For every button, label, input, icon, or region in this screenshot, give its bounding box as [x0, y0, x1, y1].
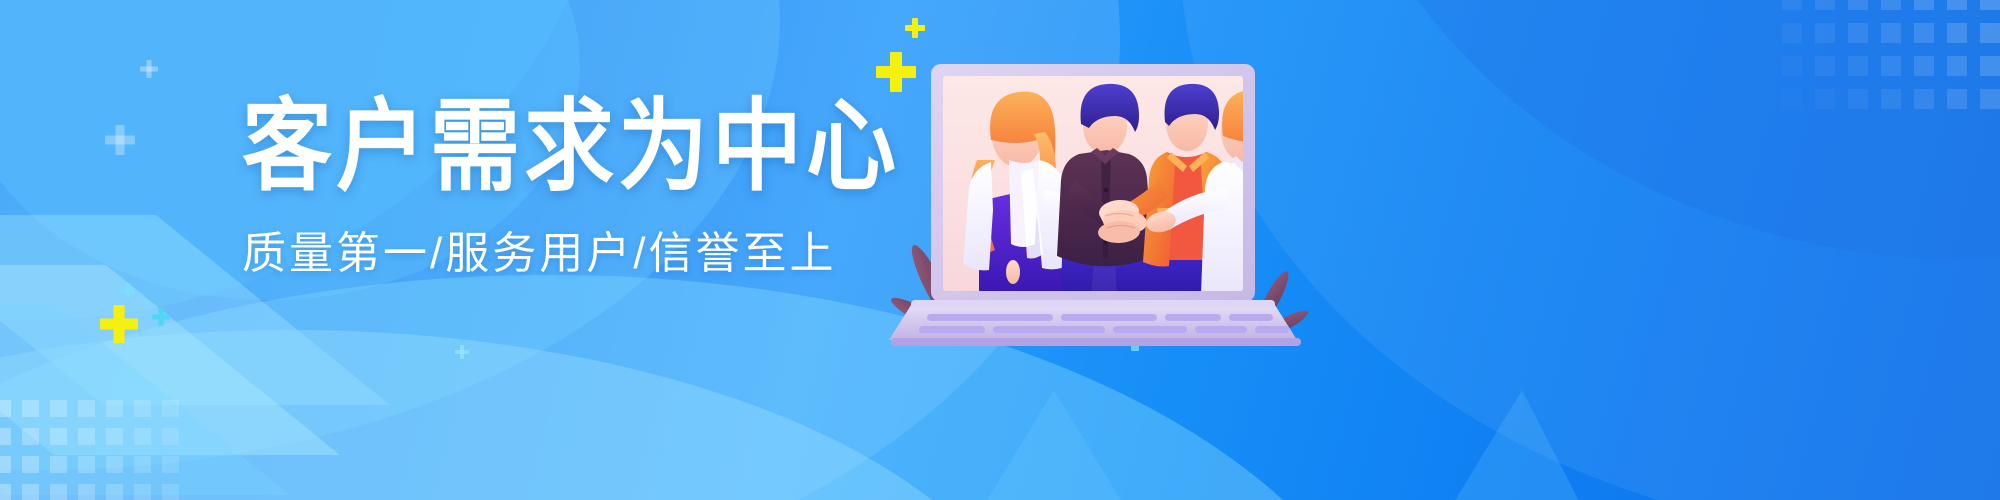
grid-square [1815, 23, 1835, 43]
background-wave-bottom-inner [0, 330, 1040, 500]
cross-decor-cyan-tiny [120, 283, 135, 298]
grid-square [1815, 0, 1835, 10]
grid-dot [78, 484, 95, 500]
grid-square [1980, 0, 2000, 10]
grid-dot [22, 456, 39, 473]
banner-copy: 客户需求为中心 质量第一/服务用户/信誉至上 [242, 96, 882, 278]
grid-square [1848, 23, 1868, 43]
grid-dot [22, 484, 39, 500]
grid-dot [162, 456, 179, 473]
grid-square [1881, 89, 1901, 109]
grid-square [1848, 89, 1868, 109]
grid-dot [106, 484, 123, 500]
grid-square [1947, 89, 1967, 109]
grid-dot [162, 428, 179, 445]
grid-square [1815, 89, 1835, 109]
cross-decor-yellow-tiny [905, 18, 925, 38]
grid-dot [22, 400, 39, 417]
grid-dot [50, 484, 67, 500]
grid-dot [106, 428, 123, 445]
grid-dot [78, 428, 95, 445]
grid-square [1881, 56, 1901, 76]
grid-dot [0, 400, 11, 417]
grid-square [1782, 56, 1802, 76]
grid-square [1980, 56, 2000, 76]
grid-square [1881, 0, 1901, 10]
cross-decor-white [105, 125, 135, 155]
grid-dot [162, 400, 179, 417]
grid-square [1881, 23, 1901, 43]
grid-dot [162, 484, 179, 500]
grid-dot [50, 456, 67, 473]
grid-square [1947, 56, 1967, 76]
grid-square [1782, 89, 1802, 109]
grid-dot [106, 456, 123, 473]
banner-headline: 客户需求为中心 [242, 96, 882, 201]
cross-decor-white-small [140, 60, 158, 78]
grid-square [1782, 0, 1802, 10]
grid-square [1848, 0, 1868, 10]
team-people [963, 84, 1289, 296]
grid-square [1914, 23, 1934, 43]
grid-dot [22, 428, 39, 445]
dot-grid-top-right [1770, 0, 2000, 115]
grid-dot [0, 484, 11, 500]
grid-square [1782, 23, 1802, 43]
chevron-decor-3 [0, 305, 290, 495]
grid-square [1914, 0, 1934, 10]
grid-dot [106, 400, 123, 417]
grid-square [1914, 56, 1934, 76]
grid-square [1980, 89, 2000, 109]
background-wave-right-dark [1320, 0, 2000, 260]
laptop-base [889, 300, 1301, 346]
grid-square [1815, 56, 1835, 76]
grid-dot [78, 456, 95, 473]
grid-square [1848, 56, 1868, 76]
teamwork-laptop-illustration [905, 40, 1325, 370]
grid-dot [50, 428, 67, 445]
grid-square [1947, 0, 1967, 10]
grid-dot [0, 456, 11, 473]
grid-dot [134, 400, 151, 417]
grid-square [1947, 23, 1967, 43]
grid-dot [0, 428, 11, 445]
grid-square [1980, 23, 2000, 43]
chevron-decor-2 [0, 265, 340, 455]
cross-decor-cyan-faint [455, 345, 469, 359]
grid-dot [78, 400, 95, 417]
grid-dot [134, 456, 151, 473]
grid-dot [134, 428, 151, 445]
grid-dot [50, 400, 67, 417]
marketing-banner: 客户需求为中心 质量第一/服务用户/信誉至上 [0, 0, 2000, 500]
cross-decor-yellow-large [100, 305, 138, 343]
dot-grid-bottom-left [0, 400, 194, 500]
grid-dot [134, 484, 151, 500]
cross-decor-cyan-small [152, 308, 170, 326]
grid-square [1914, 89, 1934, 109]
